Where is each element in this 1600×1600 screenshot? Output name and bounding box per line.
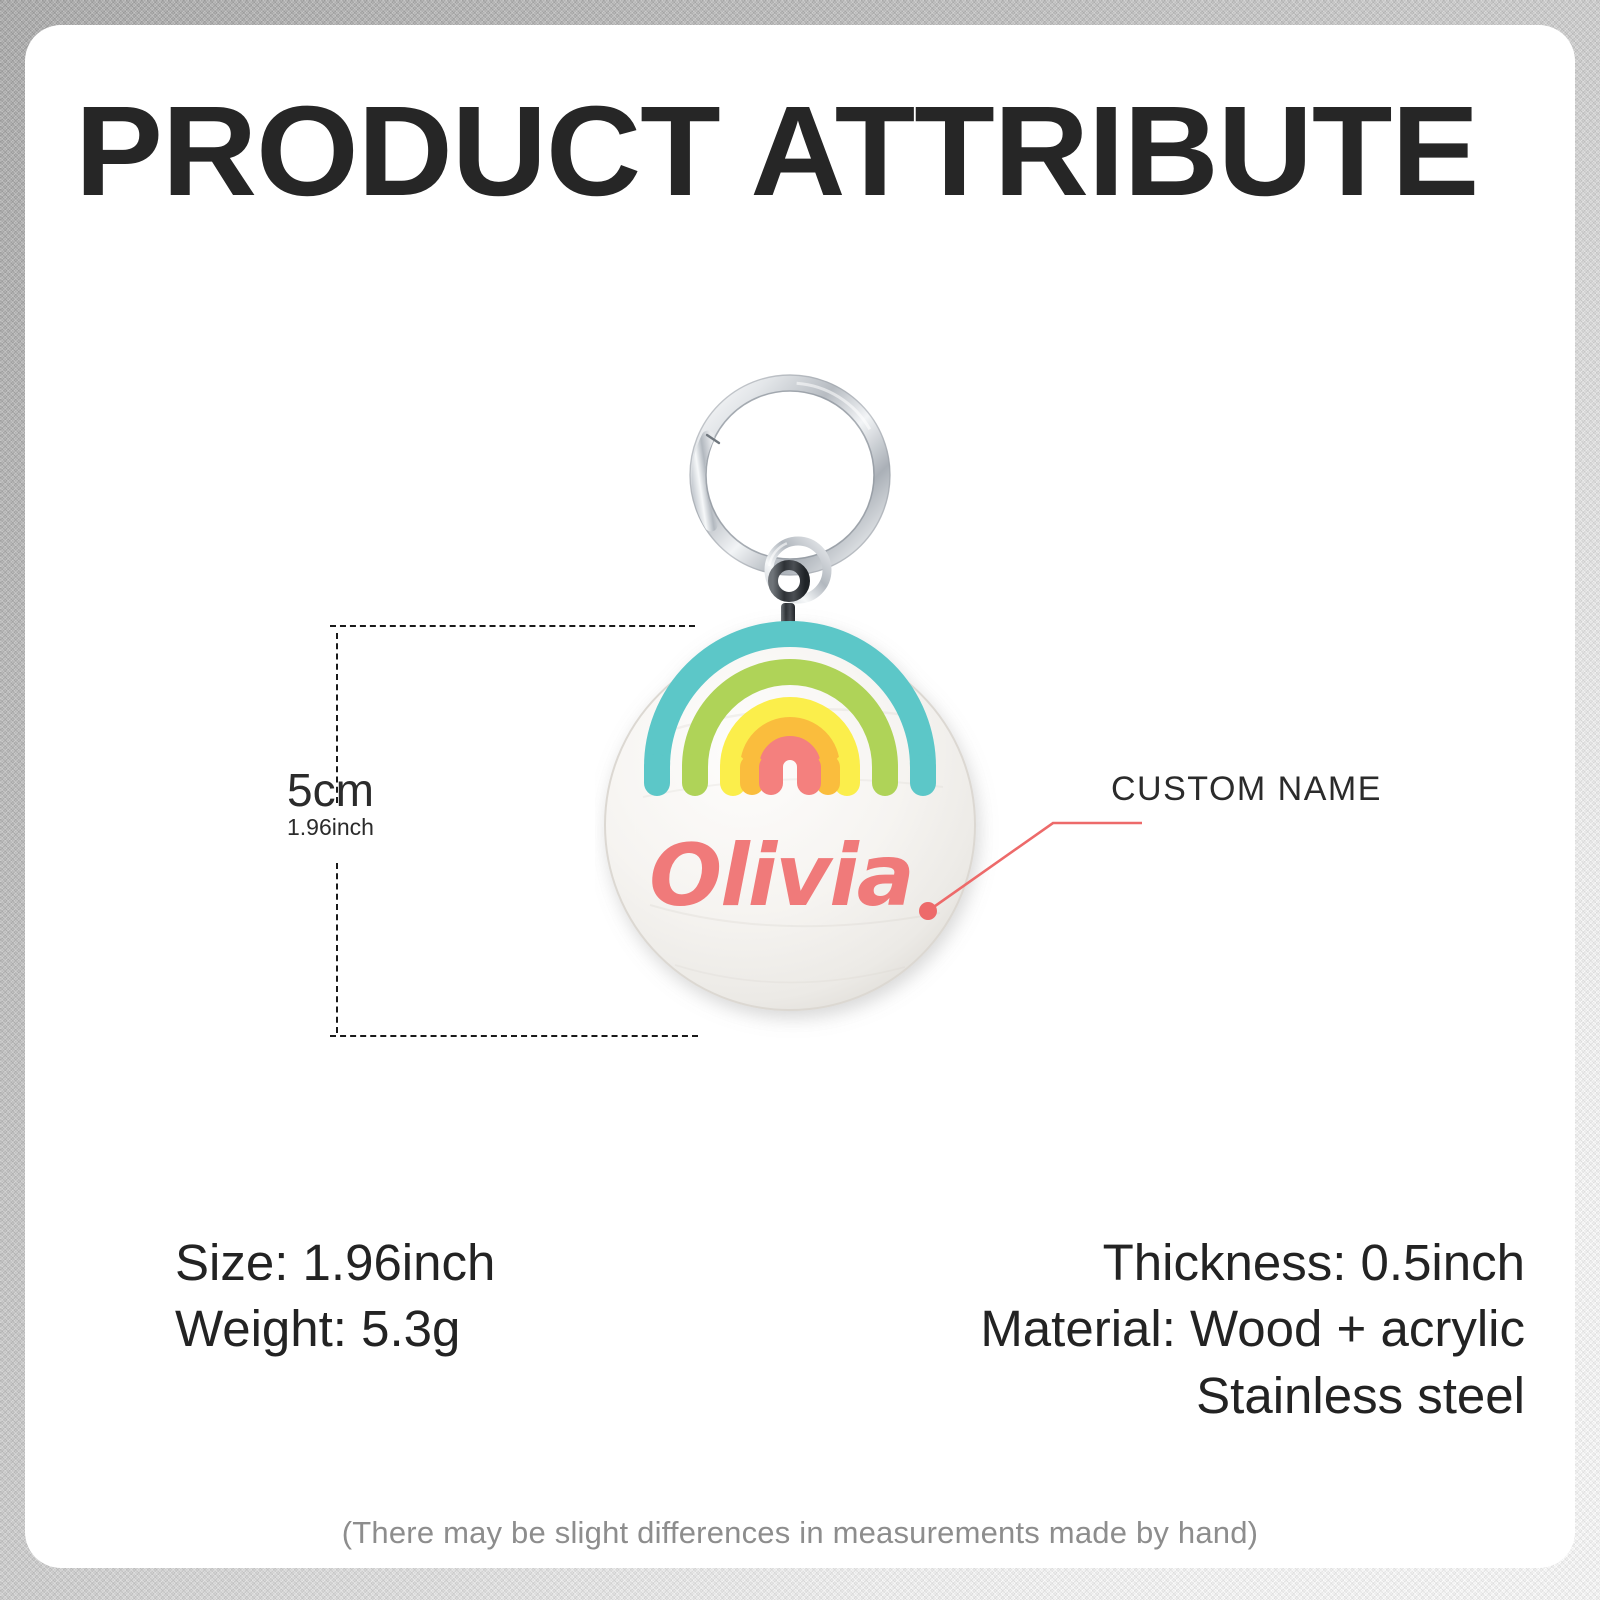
dimension-value-cm: 5cm (287, 767, 487, 813)
callout-line (928, 823, 1142, 911)
specifications-block: Size: 1.96inch Weight: 5.3g Thickness: 0… (175, 1230, 1525, 1429)
spec-weight: Weight: 5.3g (175, 1296, 460, 1362)
spec-column-left: Size: 1.96inch Weight: 5.3g (175, 1230, 495, 1363)
spec-material-extra: Stainless steel (1196, 1363, 1525, 1429)
product-attribute-card: PRODUCT ATTRIBUTE 5cm 1.96inch (25, 25, 1575, 1568)
dimension-line-vertical-lower (336, 863, 338, 1033)
page-title: PRODUCT ATTRIBUTE (75, 85, 1569, 219)
dimension-value-inch: 1.96inch (287, 813, 487, 842)
callout-label-custom-name: CUSTOM NAME (1111, 770, 1382, 809)
keychain-product-image: Olivia (595, 365, 1065, 1045)
custom-name-callout-pointer (905, 795, 1145, 935)
textured-background: PRODUCT ATTRIBUTE 5cm 1.96inch (0, 0, 1600, 1600)
spec-thickness: Thickness: 0.5inch (1103, 1230, 1525, 1296)
spec-material: Material: Wood + acrylic (980, 1296, 1525, 1362)
spec-size: Size: 1.96inch (175, 1230, 495, 1296)
measurement-disclaimer: (There may be slight differences in meas… (25, 1515, 1575, 1551)
dimension-label: 5cm 1.96inch (287, 767, 487, 842)
custom-name-text: Olivia (649, 826, 913, 926)
spec-column-right: Thickness: 0.5inch Material: Wood + acry… (980, 1230, 1525, 1429)
